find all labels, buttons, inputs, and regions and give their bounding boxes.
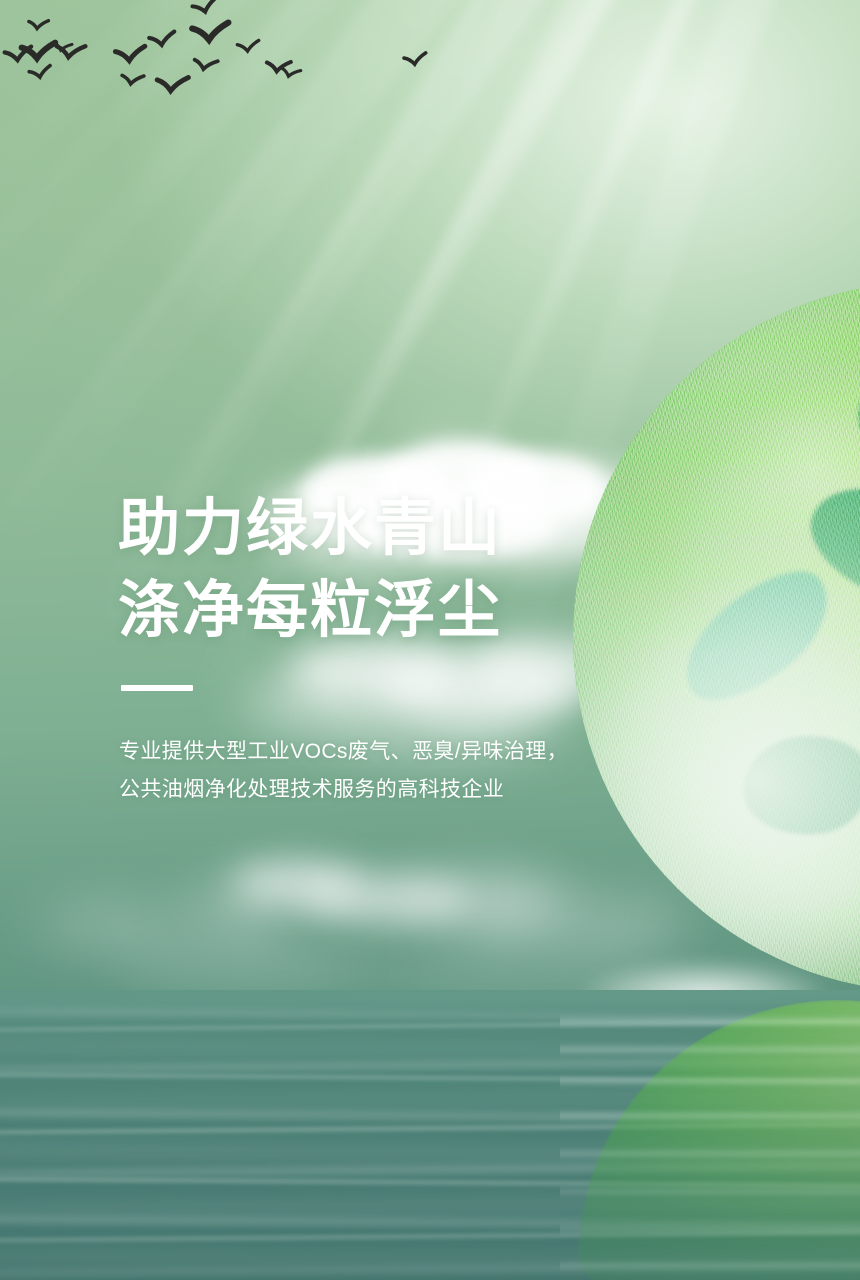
globe-reflection: [578, 1000, 860, 1280]
headline-divider: [121, 685, 193, 691]
banner-image: 助力绿水青山 涤净每粒浮尘 专业提供大型工业VOCs废气、恶臭/异味治理， 公共…: [0, 0, 860, 1280]
reflection-texture: [578, 1000, 860, 1280]
subtitle-line-2: 公共油烟净化处理技术服务的高科技企业: [119, 771, 678, 809]
headline-line-1: 助力绿水青山: [118, 488, 678, 570]
headline-line-2: 涤净每粒浮尘: [118, 570, 678, 652]
text-content: 助力绿水青山 涤净每粒浮尘 专业提供大型工业VOCs废气、恶臭/异味治理， 公共…: [118, 488, 678, 809]
subtitle-line-1: 专业提供大型工业VOCs废气、恶臭/异味治理，: [119, 733, 678, 771]
